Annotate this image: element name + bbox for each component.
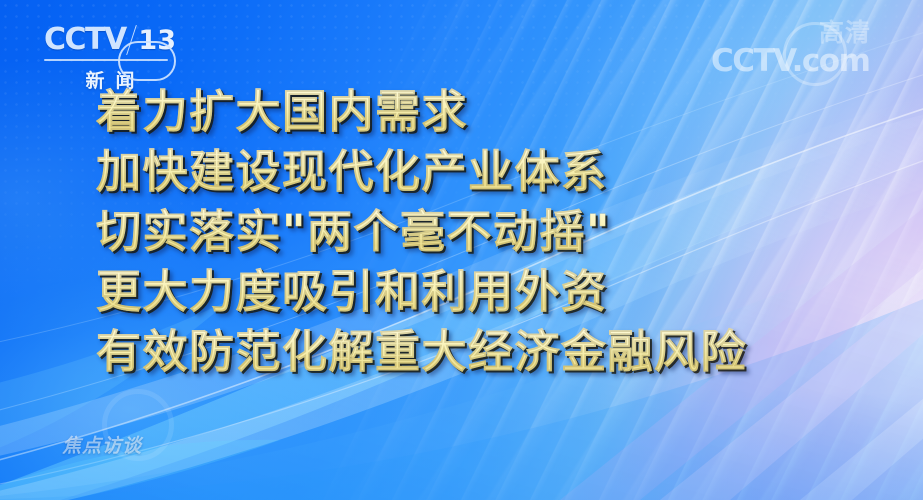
site-watermark-text: CCTV.com bbox=[711, 46, 869, 77]
headline-block: 着力扩大国内需求 加快建设现代化产业体系 切实落实"两个毫不动摇" 更大力度吸引… bbox=[96, 82, 886, 382]
site-watermark: 高清 CCTV.com bbox=[711, 24, 901, 84]
program-watermark: 焦点访谈 bbox=[62, 437, 142, 456]
headline-line: 切实落实"两个毫不动摇" bbox=[96, 202, 886, 262]
focus-circle-icon bbox=[102, 389, 174, 461]
cctv-brand-mark: CCTV bbox=[44, 25, 126, 55]
headline-line: 更大力度吸引和利用外资 bbox=[96, 262, 886, 322]
headline-line: 着力扩大国内需求 bbox=[96, 82, 886, 142]
channel-logo-row: CCTV 13 bbox=[44, 22, 176, 58]
channel-number-pill-icon bbox=[118, 41, 176, 81]
broadcast-frame: CCTV 13 新闻 高清 CCTV.com 着力扩大国内需求 加快建设现代化产… bbox=[0, 0, 923, 500]
hd-badge-label: 高清 bbox=[819, 20, 871, 45]
headline-line: 有效防范化解重大经济金融风险 bbox=[96, 322, 886, 382]
headline-line: 加快建设现代化产业体系 bbox=[96, 142, 886, 202]
